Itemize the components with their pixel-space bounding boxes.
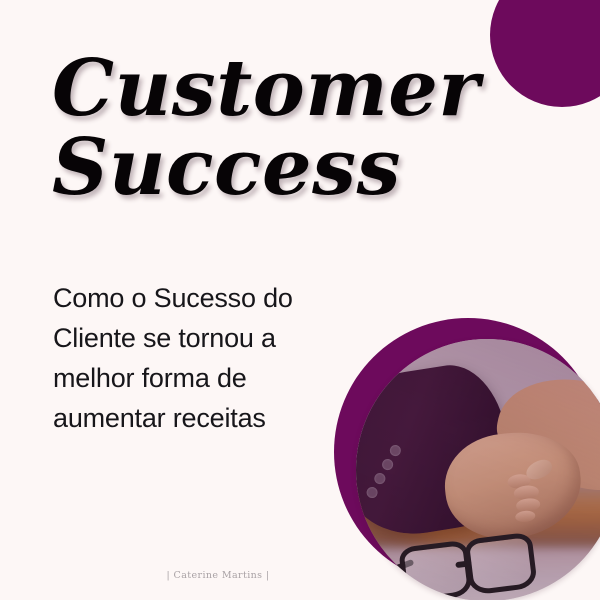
author-credit: | Caterine Martins | [0, 570, 436, 581]
handshake-photo-medallion [334, 318, 600, 586]
page-title-line-1: Customer [52, 52, 472, 127]
purple-circle-decoration [490, 0, 600, 107]
handshake-photo [356, 339, 600, 600]
photo-scene [356, 339, 600, 600]
poster-canvas: Customer Success Como o Sucesso do Clien… [0, 0, 600, 600]
page-title: Customer Success [52, 52, 472, 206]
subtitle-text: Como o Sucesso do Cliente se tornou a me… [53, 278, 353, 438]
page-title-line-2: Success [52, 131, 472, 206]
photo-duotone-tint [356, 339, 600, 600]
